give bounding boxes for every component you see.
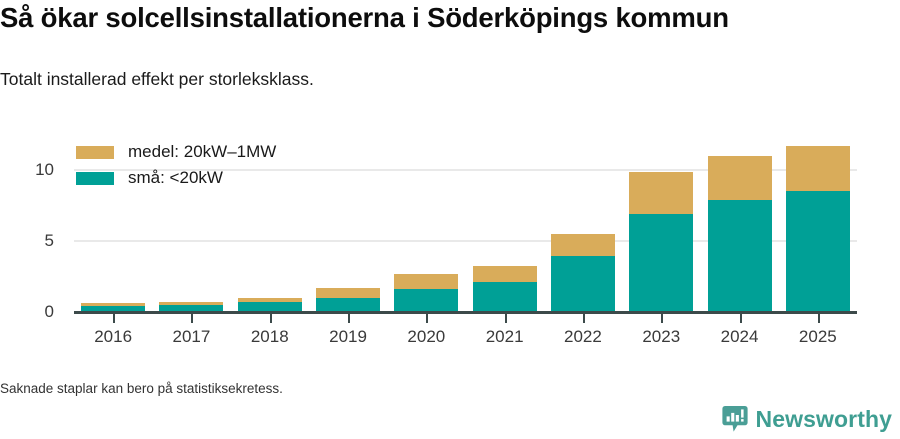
legend-swatch-sma — [76, 172, 114, 185]
x-axis-label-2016: 2016 — [73, 327, 153, 347]
x-tick-mark-2019 — [348, 314, 350, 323]
table-row[interactable] — [629, 172, 693, 311]
x-axis-label-2018: 2018 — [230, 327, 310, 347]
x-axis-label-2021: 2021 — [465, 327, 545, 347]
x-axis-label-2023: 2023 — [621, 327, 701, 347]
bar-segment-sma-2018[interactable] — [238, 302, 302, 311]
legend-label-sma: små: <20kW — [128, 168, 223, 188]
x-tick-mark-2018 — [270, 314, 272, 323]
x-axis-label-2020: 2020 — [386, 327, 466, 347]
bar-segment-medel-2024[interactable] — [708, 156, 772, 199]
table-row[interactable] — [159, 302, 223, 311]
bar-segment-medel-2022[interactable] — [551, 234, 615, 255]
legend-label-medel: medel: 20kW–1MW — [128, 142, 276, 162]
legend: medel: 20kW–1MW små: <20kW — [76, 139, 276, 191]
bar-segment-sma-2022[interactable] — [551, 256, 615, 311]
legend-swatch-medel — [76, 146, 114, 159]
footnote: Saknade staplar kan bero på statistiksek… — [0, 381, 283, 396]
bar-segment-sma-2021[interactable] — [473, 282, 537, 311]
bar-segment-sma-2025[interactable] — [786, 191, 850, 311]
bar-segment-sma-2020[interactable] — [394, 289, 458, 311]
page-title: Så ökar solcellsinstallationerna i Söder… — [0, 2, 729, 34]
table-row[interactable] — [238, 298, 302, 311]
bar-segment-medel-2025[interactable] — [786, 146, 850, 191]
bar-segment-sma-2023[interactable] — [629, 214, 693, 311]
bar-segment-sma-2016[interactable] — [81, 306, 145, 311]
x-axis-label-2025: 2025 — [778, 327, 858, 347]
x-tick-mark-2017 — [191, 314, 193, 323]
table-row[interactable] — [394, 274, 458, 311]
legend-item-medel[interactable]: medel: 20kW–1MW — [76, 139, 276, 165]
x-tick-mark-2023 — [661, 314, 663, 323]
x-tick-mark-2024 — [740, 314, 742, 323]
table-row[interactable] — [551, 234, 615, 311]
table-row[interactable] — [708, 156, 772, 311]
bar-segment-medel-2019[interactable] — [316, 288, 380, 297]
x-axis-label-2017: 2017 — [151, 327, 231, 347]
x-axis-labels: 2016201720182019202020212022202320242025 — [0, 327, 900, 351]
bar-segment-medel-2021[interactable] — [473, 266, 537, 282]
x-tick-mark-2021 — [505, 314, 507, 323]
table-row[interactable] — [786, 146, 850, 311]
newsworthy-bubble-chart-icon — [722, 405, 748, 433]
bar-segment-medel-2020[interactable] — [394, 274, 458, 289]
x-tick-mark-2016 — [113, 314, 115, 323]
x-tick-mark-2020 — [426, 314, 428, 323]
page-subtitle: Totalt installerad effekt per storlekskl… — [0, 69, 314, 90]
chart-page: Så ökar solcellsinstallationerna i Söder… — [0, 0, 900, 439]
bar-segment-medel-2023[interactable] — [629, 172, 693, 214]
legend-item-sma[interactable]: små: <20kW — [76, 165, 276, 191]
x-axis-label-2022: 2022 — [543, 327, 623, 347]
x-axis-label-2024: 2024 — [700, 327, 780, 347]
bar-segment-sma-2024[interactable] — [708, 200, 772, 311]
newsworthy-wordmark: Newsworthy — [756, 408, 892, 431]
x-axis-label-2019: 2019 — [308, 327, 388, 347]
bar-segment-sma-2017[interactable] — [159, 305, 223, 311]
x-tick-mark-2022 — [583, 314, 585, 323]
table-row[interactable] — [473, 266, 537, 311]
table-row[interactable] — [316, 288, 380, 311]
table-row[interactable] — [81, 303, 145, 311]
bar-segment-sma-2019[interactable] — [316, 298, 380, 311]
x-tick-mark-2025 — [818, 314, 820, 323]
newsworthy-logo[interactable]: Newsworthy — [722, 404, 892, 434]
